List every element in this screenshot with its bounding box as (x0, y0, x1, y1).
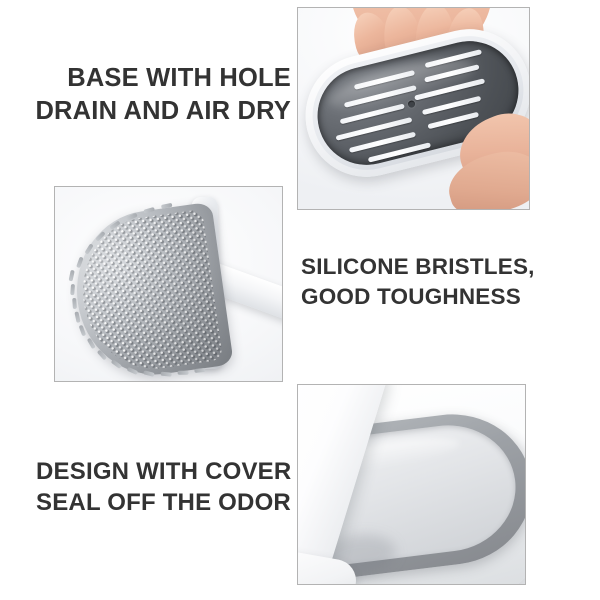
caption-base-hole-line2: DRAIN AND AIR DRY (0, 95, 291, 128)
infographic-canvas: BASE WITH HOLE DRAIN AND AIR DRY (0, 0, 600, 600)
caption-cover-line1: DESIGN WITH COVER (36, 456, 316, 487)
edge-bristle (70, 284, 74, 295)
edge-bristle (178, 371, 189, 375)
brush-head (66, 198, 262, 381)
caption-base-hole-line1: BASE WITH HOLE (0, 62, 291, 95)
caption-cover-line2: SEAL OFF THE ODOR (36, 487, 316, 518)
center-vent-dot (407, 100, 415, 108)
panel-base-hole-inner (298, 8, 529, 209)
caption-bristles-line1: SILICONE BRISTLES, (301, 252, 591, 282)
drain-slot (427, 112, 479, 129)
panel-bristles-photo (54, 186, 283, 382)
caption-base-hole: BASE WITH HOLE DRAIN AND AIR DRY (0, 62, 291, 128)
panel-cover-photo (297, 384, 526, 585)
edge-bristle (72, 298, 76, 309)
panel-bristles-inner (55, 187, 282, 381)
caption-cover: DESIGN WITH COVER SEAL OFF THE ODOR (36, 456, 316, 518)
caption-bristles-line2: GOOD TOUGHNESS (301, 282, 591, 312)
brush-head-body (66, 202, 233, 381)
panel-base-hole-photo (297, 7, 530, 210)
caption-bristles: SILICONE BRISTLES, GOOD TOUGHNESS (301, 252, 591, 312)
panel-cover-inner (298, 385, 525, 584)
bristle-dots-layer-b (73, 209, 223, 378)
